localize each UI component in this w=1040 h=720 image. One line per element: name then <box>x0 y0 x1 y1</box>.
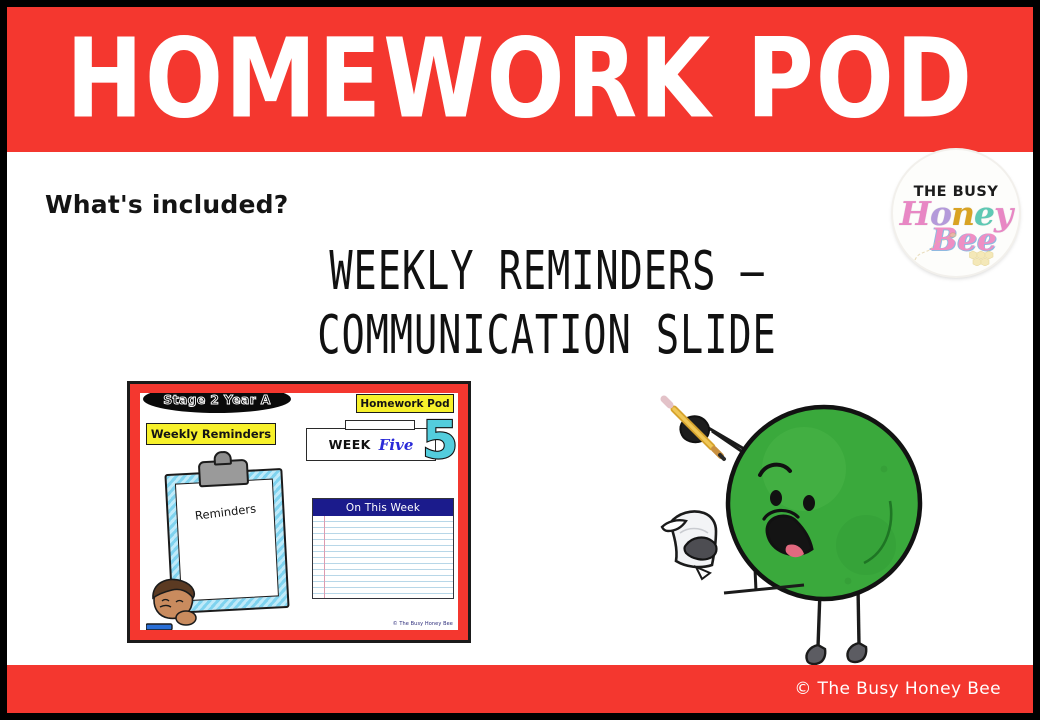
preview-credit-text: © The Busy Honey Bee <box>393 621 453 627</box>
notepad-margin-line <box>324 516 325 598</box>
week-word-label: WEEK <box>329 437 371 452</box>
bee-flight-path-icon <box>913 232 959 262</box>
feature-heading-line-2: COMMUNICATION SLIDE <box>207 302 888 365</box>
on-this-week-notepad: On This Week <box>312 498 454 599</box>
honeycomb-icon <box>969 250 997 266</box>
papers-icon <box>662 511 717 579</box>
footer-credit-text: © The Busy Honey Bee <box>794 679 1001 699</box>
week-banner: WEEK Five <box>306 428 436 461</box>
feature-heading: WEEKLY REMINDERS – COMMUNICATION SLIDE <box>207 239 888 366</box>
slide-canvas: Homework Pod THE BUSY Honey Bee What's i… <box>0 0 1040 720</box>
notepad-header: On This Week <box>313 499 453 516</box>
logo-letter-h: H <box>900 194 930 233</box>
notepad-title: On This Week <box>346 502 420 514</box>
week-number-value: 5 <box>422 415 458 467</box>
whats-included-label: What's included? <box>45 190 288 219</box>
preview-slide-body: Stage 2 Year A Homework Pod Weekly Remin… <box>140 393 458 630</box>
preview-slide-thumbnail[interactable]: Stage 2 Year A Homework Pod Weekly Remin… <box>127 381 471 643</box>
stage-pill: Stage 2 Year A <box>143 393 291 413</box>
header-banner: Homework Pod <box>7 7 1033 152</box>
footer-banner: © The Busy Honey Bee <box>7 665 1033 713</box>
notepad-lined-area <box>313 516 453 598</box>
page-title: Homework Pod <box>66 25 974 135</box>
student-clipart-icon <box>146 574 218 630</box>
week-name-value: Five <box>379 436 414 454</box>
week-ribbon-decoration <box>345 420 415 430</box>
feature-heading-line-1: WEEKLY REMINDERS – <box>329 239 764 302</box>
clipboard-clamp-knob <box>213 451 232 466</box>
stage-label: Stage 2 Year A <box>163 393 270 407</box>
pencil-icon <box>664 399 724 459</box>
busy-honey-bee-logo: THE BUSY Honey Bee <box>893 150 1019 276</box>
green-pea-mascot-illustration <box>652 395 942 673</box>
preview-weekly-reminders-label: Weekly Reminders <box>146 423 276 445</box>
